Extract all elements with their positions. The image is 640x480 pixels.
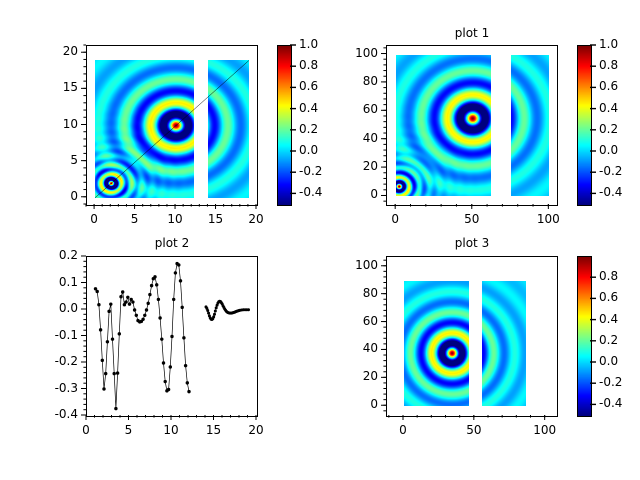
x-tick-label: 100 (523, 423, 567, 437)
x-tick-label: 15 (192, 423, 236, 437)
colorbar-tick-label: 0.0 (599, 143, 618, 157)
x-tick-label: 0 (381, 423, 425, 437)
ticks-bottom-right (320, 240, 640, 480)
x-tick-label: 0 (72, 212, 116, 226)
y-tick-label: 0.0 (40, 301, 78, 315)
y-tick-label: 20 (40, 44, 78, 58)
x-tick-label: 50 (450, 212, 494, 226)
y-tick-label: 20 (340, 369, 378, 383)
colorbar-gradient (578, 46, 591, 205)
colorbar-tick-label: 0.0 (599, 354, 618, 368)
colorbar-tick-label: -0.4 (599, 185, 622, 199)
y-tick-label: 15 (40, 80, 78, 94)
x-tick-label: 100 (526, 212, 570, 226)
colorbar-tick-label: 0.0 (299, 143, 318, 157)
x-tick-label: 20 (234, 423, 278, 437)
y-tick-label: 80 (340, 286, 378, 300)
colorbar-tick-label: 0.8 (599, 269, 618, 283)
x-tick-label: 10 (149, 423, 193, 437)
colorbar-tick-label: 0.8 (599, 58, 618, 72)
y-tick-label: -0.3 (40, 381, 78, 395)
colorbar-tick-label: 0.6 (599, 79, 618, 93)
y-tick-label: 40 (340, 341, 378, 355)
y-tick-label: -0.2 (40, 354, 78, 368)
y-tick-label: 0.1 (40, 275, 78, 289)
colorbar-tick-label: 1.0 (599, 37, 618, 51)
y-tick-label: 0 (40, 189, 78, 203)
x-tick-label: 15 (194, 212, 238, 226)
x-tick-label: 0 (373, 212, 417, 226)
colorbar-tick-label: -0.4 (599, 396, 622, 410)
x-tick-label: 5 (107, 423, 151, 437)
colorbar-tick-label: -0.2 (599, 164, 622, 178)
y-tick-label: 5 (40, 153, 78, 167)
colorbar-tick-label: 0.2 (299, 122, 318, 136)
subplot-top-left: 05101520 05101520 1.00.80.60.40.20.0-0.2… (0, 0, 320, 240)
y-tick-label: 60 (340, 102, 378, 116)
colorbar-tick-label: -0.4 (299, 185, 322, 199)
y-tick-label: 60 (340, 314, 378, 328)
y-tick-label: 0 (340, 187, 378, 201)
colorbar-tick-label: 0.4 (599, 312, 618, 326)
colorbar-tick-label: 0.2 (599, 122, 618, 136)
y-tick-label: 100 (340, 46, 378, 60)
colorbar-tick-label: 1.0 (299, 37, 318, 51)
colorbar-bottom-right (577, 256, 592, 417)
x-tick-label: 0 (64, 423, 108, 437)
y-tick-label: -0.1 (40, 328, 78, 342)
y-tick-label: 100 (340, 258, 378, 272)
colorbar-gradient (578, 257, 591, 416)
y-tick-label: 0.2 (40, 248, 78, 262)
x-tick-label: 50 (452, 423, 496, 437)
y-tick-label: 0 (340, 397, 378, 411)
colorbar-tick-label: 0.4 (299, 101, 318, 115)
y-tick-label: -0.4 (40, 407, 78, 421)
colorbar-tick-label: -0.2 (299, 164, 322, 178)
x-tick-label: 5 (113, 212, 157, 226)
colorbar-tick-label: 0.4 (599, 101, 618, 115)
x-tick-label: 20 (234, 212, 278, 226)
y-tick-label: 10 (40, 117, 78, 131)
colorbar-top-left (277, 45, 292, 206)
colorbar-tick-label: 0.2 (599, 333, 618, 347)
x-tick-label: 10 (153, 212, 197, 226)
y-tick-label: 40 (340, 131, 378, 145)
y-tick-label: 20 (340, 159, 378, 173)
y-tick-label: 80 (340, 74, 378, 88)
subplot-top-right: plot 1 020406080100 050100 1.00.80.60.40… (320, 0, 640, 240)
colorbar-tick-label: 0.6 (599, 290, 618, 304)
subplot-bottom-left: plot 2 -0.4-0.3-0.2-0.10.00.10.2 0510152… (0, 240, 320, 480)
colorbar-top-right (577, 45, 592, 206)
colorbar-tick-label: 0.6 (299, 79, 318, 93)
ticks-top-right (320, 0, 640, 240)
subplot-bottom-right: plot 3 020406080100 050100 0.80.60.40.20… (320, 240, 640, 480)
colorbar-tick-label: -0.2 (599, 375, 622, 389)
figure-canvas: 05101520 05101520 1.00.80.60.40.20.0-0.2… (0, 0, 640, 480)
colorbar-tick-label: 0.8 (299, 58, 318, 72)
colorbar-gradient (278, 46, 291, 205)
